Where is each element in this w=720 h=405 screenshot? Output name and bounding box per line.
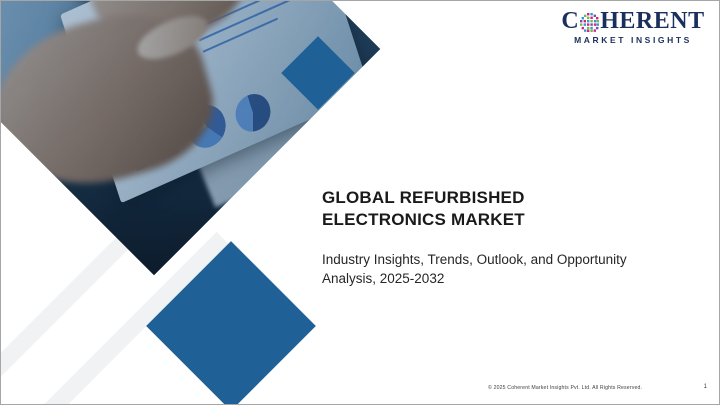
logo-tagline: MARKET INSIGHTS xyxy=(563,36,703,45)
page-subtitle: Industry Insights, Trends, Outlook, and … xyxy=(322,250,652,289)
accent-diamond-large xyxy=(146,241,316,405)
logo-word-left: C xyxy=(561,9,579,33)
company-logo: C xyxy=(563,9,703,45)
logo-wordmark: C xyxy=(563,9,703,33)
pixel-grid-o-icon xyxy=(580,13,599,32)
footer-copyright: © 2025 Coherent Market Insights Pvt. Ltd… xyxy=(488,385,642,391)
slide-footer: © 2025 Coherent Market Insights Pvt. Ltd… xyxy=(1,385,719,399)
page-title: GLOBAL REFURBISHED ELECTRONICS MARKET xyxy=(322,187,652,232)
title-block: GLOBAL REFURBISHED ELECTRONICS MARKET In… xyxy=(322,187,652,289)
logo-word-right: HERENT xyxy=(600,9,704,33)
presentation-slide: C xyxy=(0,0,720,405)
footer-page-number: 1 xyxy=(704,384,707,390)
